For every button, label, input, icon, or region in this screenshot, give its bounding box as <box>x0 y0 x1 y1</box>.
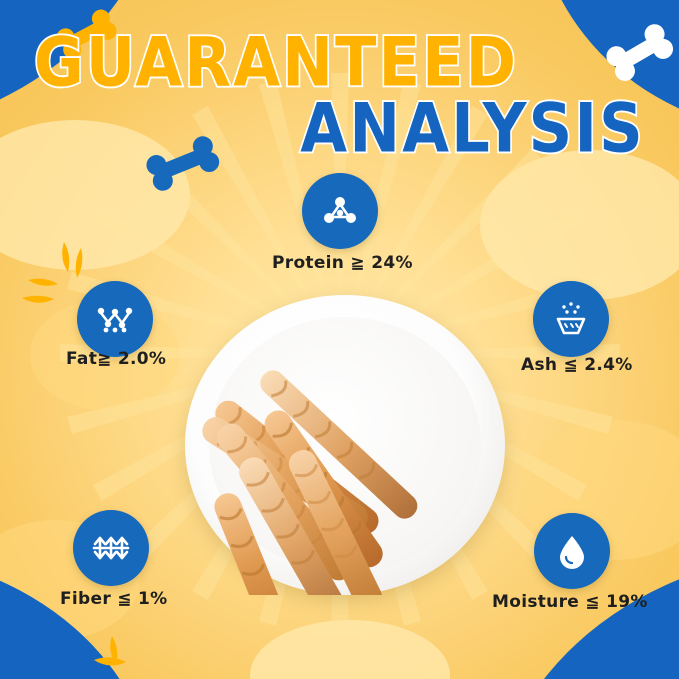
bone-icon-top-left <box>52 8 122 62</box>
product-plate <box>185 295 505 595</box>
bone-icon-left <box>140 132 226 196</box>
chicken-wrapped-chews <box>185 295 505 595</box>
badge-fiber <box>73 510 149 586</box>
label-fat: Fat≧ 2.0% <box>66 349 166 369</box>
label-fiber: Fiber ≦ 1% <box>60 589 167 609</box>
sparkle-decoration-bottom <box>88 630 158 679</box>
label-protein: Protein ≧ 24% <box>272 253 413 273</box>
badge-protein <box>302 173 378 249</box>
bone-icon-top-right <box>600 22 679 84</box>
label-ash: Ash ≦ 2.4% <box>521 355 633 375</box>
ash-bowl-icon <box>548 296 594 342</box>
badge-moisture <box>534 513 610 589</box>
fat-dots-icon <box>92 296 138 342</box>
badge-fat <box>77 281 153 357</box>
water-drop-icon <box>550 529 594 573</box>
molecule-icon <box>318 189 362 233</box>
badge-ash <box>533 281 609 357</box>
label-moisture: Moisture ≦ 19% <box>492 592 648 612</box>
fiber-icon <box>87 524 135 572</box>
promo-graphic: GUARANTEED ANALYSIS <box>0 0 679 679</box>
